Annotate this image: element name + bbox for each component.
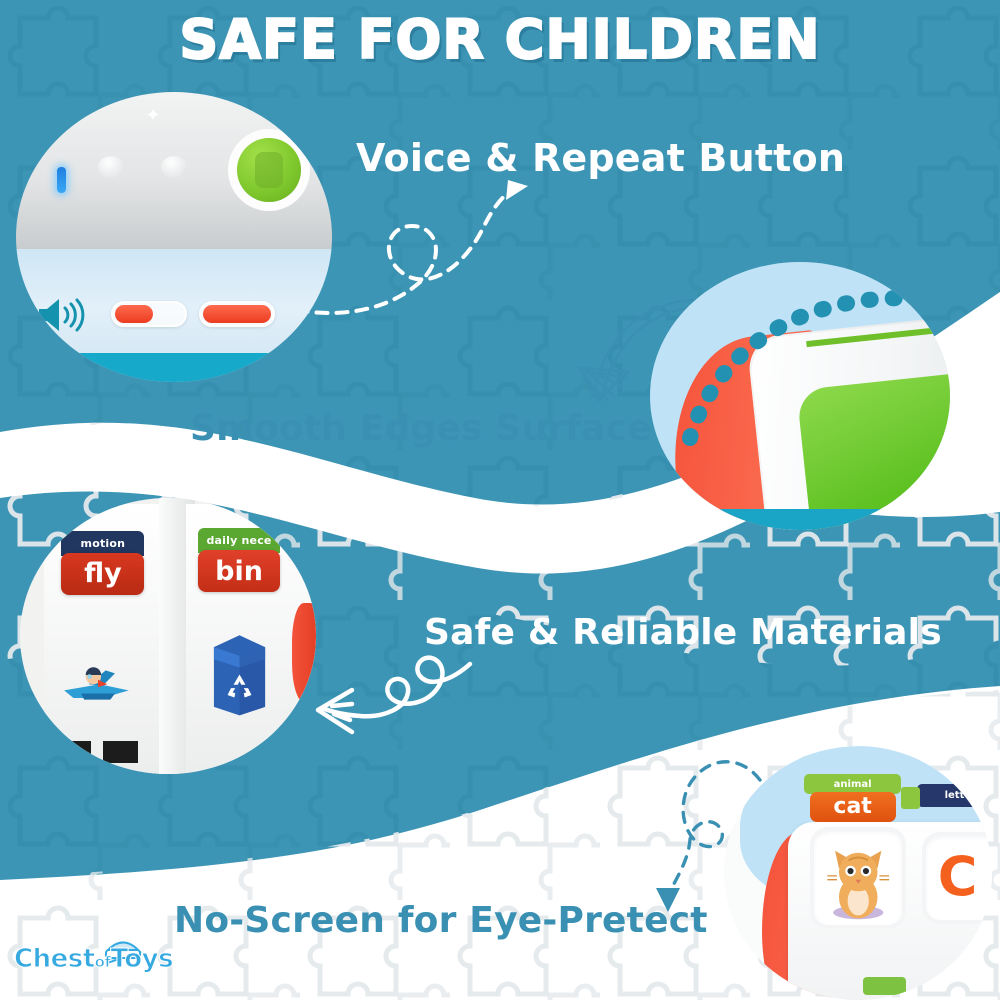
- brand-toys-label: Toys: [110, 944, 173, 974]
- feature-label-no-screen: No-Screen for Eye-Pretect: [174, 900, 708, 941]
- slider-button-right[interactable]: [199, 301, 275, 327]
- brand-chest-label: Chest: [14, 944, 95, 974]
- device-bump-icon: [161, 156, 187, 178]
- card-category-label: motion: [81, 537, 126, 550]
- photo-no-screen: animal cat lett: [724, 746, 992, 1000]
- sparkle-icon: ✦: [146, 107, 161, 125]
- blue-indicator-led-icon: [57, 167, 66, 193]
- edge-highlight-arc-icon: [650, 262, 950, 530]
- arrow-voice-repeat-head-icon: [506, 180, 528, 200]
- speaker-icon: [35, 295, 93, 335]
- feature-label-safe-materials: Safe & Reliable Materials: [424, 612, 942, 653]
- slider-knob: [203, 305, 271, 323]
- toy-red-edge: [292, 603, 316, 702]
- infographic-canvas: SAFE FOR CHILDREN ✦: [0, 0, 1000, 1000]
- card-tab-green: [901, 787, 920, 810]
- card-word-fly: fly: [61, 553, 144, 594]
- card-word-bin: bin: [198, 550, 281, 591]
- card-marker-bar: [61, 741, 91, 763]
- card-word-cat: cat: [810, 792, 896, 822]
- toy-green-foot: [863, 977, 906, 995]
- device-base-strip: [16, 353, 332, 382]
- photo-safe-materials: motion fly daily nece bin: [20, 498, 316, 774]
- card-category-label: animal: [834, 779, 872, 790]
- slider-knob: [115, 305, 153, 323]
- card-word-label: fly: [84, 558, 122, 589]
- brand-of-label: of: [95, 953, 111, 971]
- card-category-label: lett: [945, 790, 965, 801]
- picture-window-letter: C: [922, 832, 992, 923]
- card-word-label: cat: [833, 794, 871, 819]
- card-word-label: bin: [215, 556, 263, 587]
- pilot-plane-icon: [58, 650, 135, 711]
- card-category-letter: lett: [917, 784, 992, 807]
- card-marker-bar: [103, 741, 139, 763]
- letter-c-icon: C: [938, 845, 978, 908]
- feature-label-smooth-edges: Smooth Edges Surface: [190, 408, 652, 449]
- brand-logo[interactable]: ChestofToys: [10, 932, 160, 990]
- card-category-label: daily nece: [206, 534, 271, 547]
- arrow-materials-icon: [318, 658, 470, 732]
- recycle-bin-icon: [204, 625, 275, 719]
- picture-window-cat: [810, 827, 906, 929]
- photo-voice-button: ✦: [16, 92, 332, 382]
- feature-label-voice-repeat: Voice & Repeat Button: [356, 136, 845, 180]
- cat-icon: [810, 827, 906, 929]
- device-bump-icon: [98, 156, 124, 178]
- photo-smooth-edges: [650, 262, 950, 530]
- slider-button-left[interactable]: [111, 301, 187, 327]
- page-title: SAFE FOR CHILDREN: [0, 8, 1000, 71]
- brand-logo-text: ChestofToys: [14, 944, 173, 974]
